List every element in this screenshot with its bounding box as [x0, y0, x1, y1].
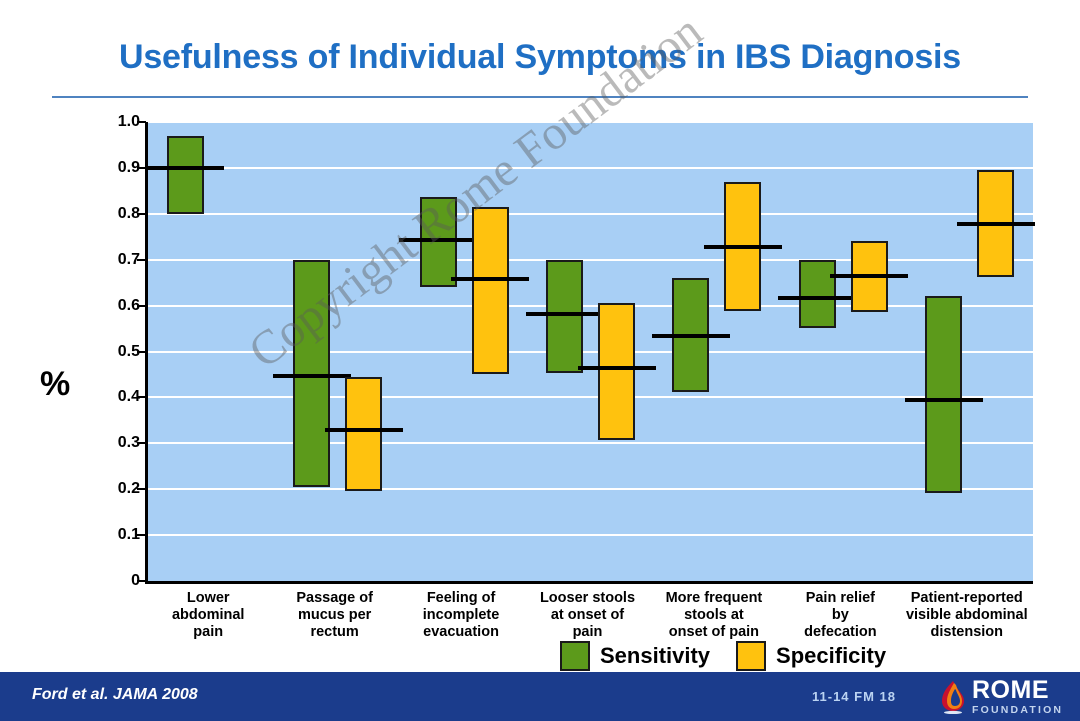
x-axis-label-line: stools at	[651, 607, 777, 624]
gridline	[148, 351, 1033, 353]
y-axis-tick-mark	[137, 167, 146, 169]
x-axis-label-line: visible abdominal	[904, 607, 1030, 624]
median-line-specificity	[704, 245, 782, 249]
x-axis-category-label: Lowerabdominalpain	[145, 590, 271, 641]
y-axis-tick-mark	[137, 305, 146, 307]
y-axis-caption: %	[40, 365, 70, 404]
y-axis-tick-mark	[137, 488, 146, 490]
title-divider	[52, 96, 1028, 98]
y-axis-tick-label: 0.5	[88, 343, 140, 361]
y-axis-tick-mark	[137, 213, 146, 215]
x-axis-label-line: Patient-reported	[904, 590, 1030, 607]
median-line-sensitivity	[526, 312, 604, 316]
x-axis-label-line: Feeling of	[398, 590, 524, 607]
y-axis-tick-mark	[137, 580, 146, 582]
x-axis-label-line: rectum	[271, 624, 397, 641]
x-axis-category-labels: LowerabdominalpainPassage ofmucus perrec…	[145, 590, 1030, 660]
chart-plot-area: Sensitivity Specificity	[145, 122, 1033, 584]
median-line-sensitivity	[652, 334, 730, 338]
x-axis-label-line: Pain relief	[777, 590, 903, 607]
range-box-specificity	[598, 303, 635, 440]
x-axis-label-line: onset of pain	[651, 624, 777, 641]
x-axis-label-line: by	[777, 607, 903, 624]
median-line-sensitivity	[273, 374, 351, 378]
x-axis-category-label: Looser stoolsat onset ofpain	[524, 590, 650, 641]
gridline	[148, 396, 1033, 398]
gridline	[148, 305, 1033, 307]
x-axis-label-line: mucus per	[271, 607, 397, 624]
median-line-specificity	[830, 274, 908, 278]
rome-foundation-logo[interactable]: ROME FOUNDATION	[940, 677, 1070, 717]
x-axis-category-label: Passage ofmucus perrectum	[271, 590, 397, 641]
x-axis-label-line: pain	[145, 624, 271, 641]
x-axis-category-label: More frequentstools atonset of pain	[651, 590, 777, 641]
y-axis-tick-label: 0.2	[88, 480, 140, 498]
median-line-sensitivity	[399, 238, 477, 242]
footer-slide-code: 11-14 FM 18	[812, 689, 896, 704]
gridline	[148, 213, 1033, 215]
y-axis-tick-label: 0.1	[88, 526, 140, 544]
x-axis-label-line: abdominal	[145, 607, 271, 624]
median-line-specificity	[325, 428, 403, 432]
x-axis-label-line: defecation	[777, 624, 903, 641]
y-axis-tick-mark	[137, 351, 146, 353]
range-box-specificity	[345, 377, 382, 491]
range-box-sensitivity	[546, 260, 583, 373]
x-axis-label-line: More frequent	[651, 590, 777, 607]
logo-rome-text: ROME	[972, 678, 1063, 703]
median-line-sensitivity	[778, 296, 856, 300]
y-axis-tick-label: 0.8	[88, 205, 140, 223]
x-axis-label-line: pain	[524, 624, 650, 641]
y-axis-tick-label: 0.9	[88, 159, 140, 177]
gridline	[148, 259, 1033, 261]
y-axis-tick-mark	[137, 121, 146, 123]
y-axis-tick-label: 0.4	[88, 388, 140, 406]
median-line-specificity	[451, 277, 529, 281]
flame-icon	[940, 680, 966, 714]
x-axis-category-label: Feeling ofincompleteevacuation	[398, 590, 524, 641]
range-box-sensitivity	[167, 136, 204, 214]
median-line-sensitivity	[905, 398, 983, 402]
y-axis-tick-labels: 00.10.20.30.40.50.60.70.80.91.0	[88, 122, 140, 581]
x-axis-label-line: at onset of	[524, 607, 650, 624]
x-axis-category-label: Pain reliefbydefecation	[777, 590, 903, 641]
y-axis-tick-mark	[137, 259, 146, 261]
footer-citation: Ford et al. JAMA 2008	[32, 686, 198, 704]
x-axis-label-line: incomplete	[398, 607, 524, 624]
range-box-specificity	[472, 207, 509, 375]
range-box-sensitivity	[420, 197, 457, 287]
range-box-sensitivity	[799, 260, 836, 328]
x-axis-label-line: Looser stools	[524, 590, 650, 607]
x-axis-label-line: Lower	[145, 590, 271, 607]
gridline	[148, 167, 1033, 169]
x-axis-label-line: evacuation	[398, 624, 524, 641]
y-axis-tick-label: 0.6	[88, 297, 140, 315]
median-line-sensitivity	[146, 166, 224, 170]
x-axis-category-label: Patient-reportedvisible abdominaldistens…	[904, 590, 1030, 641]
slide-footer: Ford et al. JAMA 2008 11-14 FM 18 ROME F…	[0, 672, 1080, 721]
y-axis-tick-mark	[137, 534, 146, 536]
y-axis-tick-label: 1.0	[88, 113, 140, 131]
logo-wordmark: ROME FOUNDATION	[972, 678, 1063, 716]
y-axis-tick-mark	[137, 396, 146, 398]
gridline	[148, 488, 1033, 490]
gridline	[148, 534, 1033, 536]
median-line-specificity	[578, 366, 656, 370]
median-line-specificity	[957, 222, 1035, 226]
page-title: Usefulness of Individual Symptoms in IBS…	[0, 38, 1080, 77]
gridline	[148, 121, 1033, 123]
gridline	[148, 442, 1033, 444]
y-axis-tick-label: 0.3	[88, 434, 140, 452]
y-axis-tick-label: 0.7	[88, 251, 140, 269]
y-axis-tick-label: 0	[88, 572, 140, 590]
logo-foundation-text: FOUNDATION	[972, 705, 1063, 716]
x-axis-label-line: distension	[904, 624, 1030, 641]
x-axis-label-line: Passage of	[271, 590, 397, 607]
range-box-sensitivity	[925, 296, 962, 492]
y-axis-tick-mark	[137, 442, 146, 444]
